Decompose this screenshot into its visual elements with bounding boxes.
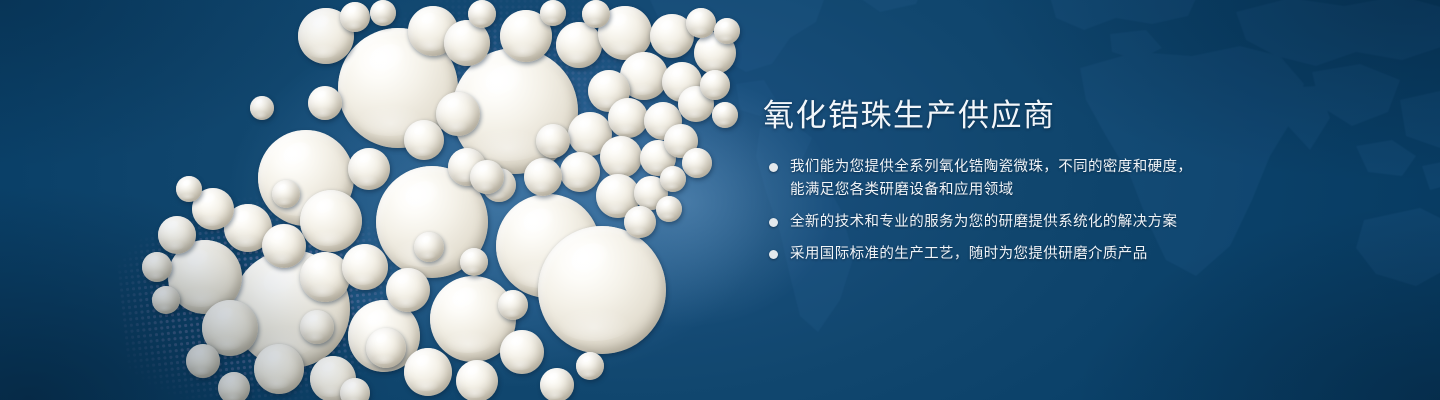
hero-banner: 氧化锆珠生产供应商 我们能为您提供全系列氧化锆陶瓷微珠，不同的密度和硬度， 能满… xyxy=(0,0,1440,400)
vignette-overlay xyxy=(0,0,1440,400)
